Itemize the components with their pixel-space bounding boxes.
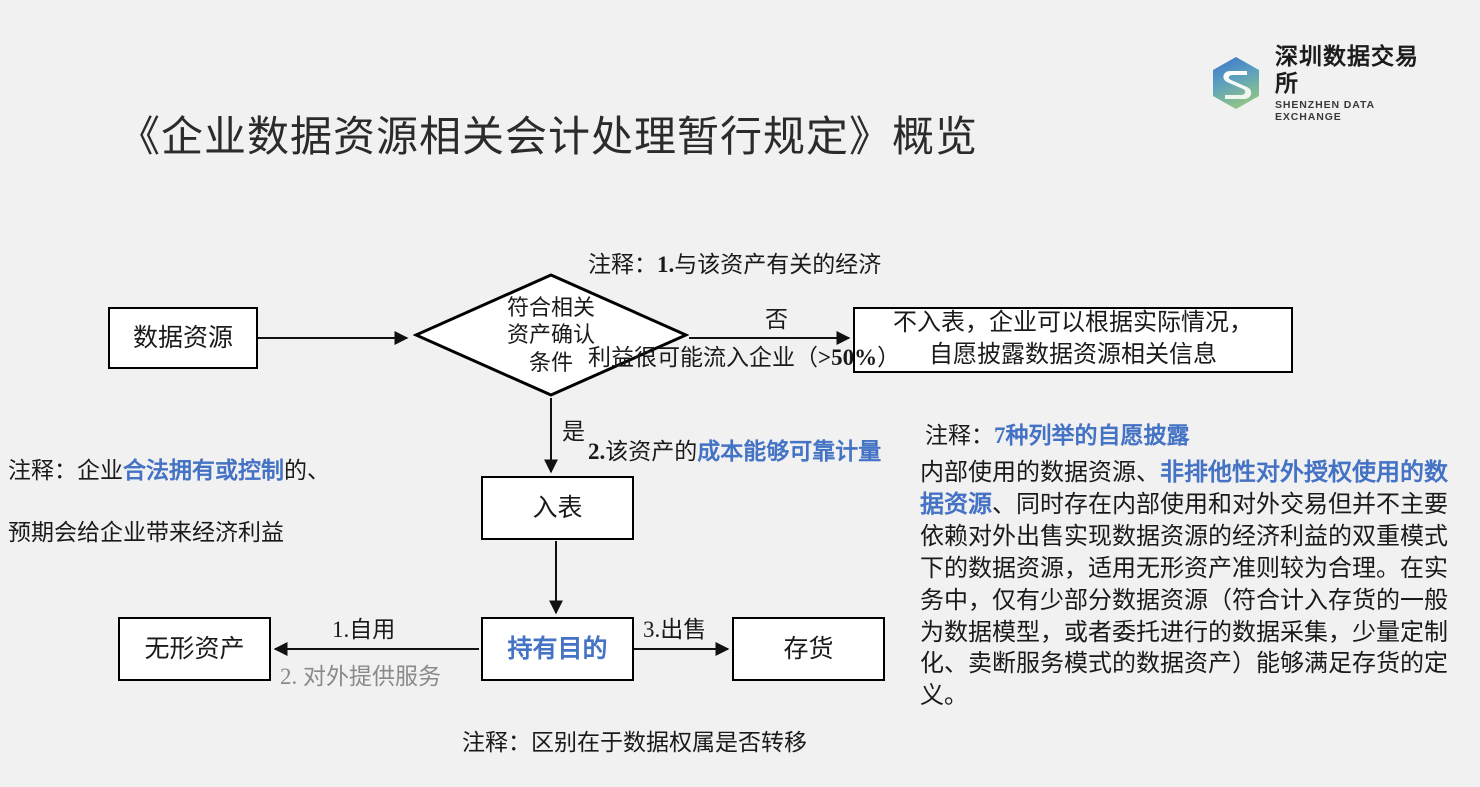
annotation-top-item1-part3: ） <box>877 345 900 370</box>
annotation-top-item1-part2: 利益很可能流入企业（ <box>588 345 818 370</box>
node-holding-purpose[interactable]: 持有目的 <box>481 617 634 681</box>
node-inventory-label: 存货 <box>783 633 833 666</box>
annotation-top-item2-highlight: 成本能够可靠计量 <box>697 439 881 464</box>
annotation-right-note: 注释：7种列举的自愿披露 <box>925 389 1345 452</box>
annotation-bottom: 注释：区别在于数据权属是否转移 <box>462 727 912 758</box>
annotation-right-note-prefix: 注释： <box>925 423 994 448</box>
annotation-top-item1-part1: 与该资产有关的经济 <box>674 252 881 277</box>
annotation-left-suffix: 的、 <box>284 458 330 483</box>
annotation-left-line-1: 注释：企业合法拥有或控制的、 <box>8 423 438 486</box>
annotation-top: 注释：1.与该资产有关的经济 利益很可能流入企业（>50%） 2.该资产的成本能… <box>588 186 1008 499</box>
node-intangible-asset[interactable]: 无形资产 <box>118 617 271 681</box>
annotation-left-highlight: 合法拥有或控制 <box>123 458 284 483</box>
slide-canvas: 深圳数据交易所 SHENZHEN DATA EXCHANGE 《企业数据资源相关… <box>0 0 1480 787</box>
annotation-top-line-1: 注释：1.与该资产有关的经济 <box>588 217 1008 280</box>
node-inventory[interactable]: 存货 <box>732 617 885 681</box>
decision-line-1: 符合相关 <box>507 294 595 321</box>
page-title: 《企业数据资源相关会计处理暂行规定》概览 <box>118 103 978 164</box>
node-data-resource[interactable]: 数据资源 <box>108 307 258 369</box>
decision-line-3: 条件 <box>529 349 573 376</box>
node-data-resource-label: 数据资源 <box>133 322 233 355</box>
brand-logo-text: 深圳数据交易所 SHENZHEN DATA EXCHANGE <box>1275 43 1437 123</box>
annotation-top-prefix: 注释： <box>588 252 657 277</box>
brand-name-cn: 深圳数据交易所 <box>1275 43 1437 96</box>
annotation-top-line-2: 利益很可能流入企业（>50%） <box>588 311 1008 374</box>
paragraph-segment-3: 、同时存在内部使用和对外交易但并不主要依赖对外出售实现数据资源的经济利益的双重模… <box>920 492 1448 709</box>
annotation-left-prefix: 注释：企业 <box>8 458 123 483</box>
node-intangible-asset-label: 无形资产 <box>144 633 244 666</box>
right-paragraph: 内部使用的数据资源、非排他性对外授权使用的数据资源、同时存在内部使用和对外交易但… <box>920 458 1448 713</box>
annotation-top-item1-num: 1. <box>657 252 674 277</box>
annotation-top-item2-num: 2. <box>588 439 605 464</box>
annotation-right-note-highlight: 7种列举的自愿披露 <box>994 423 1190 448</box>
node-holding-purpose-label: 持有目的 <box>507 633 607 666</box>
paragraph-segment-1: 内部使用的数据资源、 <box>920 460 1160 486</box>
annotation-left-line-2: 预期会给企业带来经济利益 <box>8 517 438 548</box>
brand-name-en: SHENZHEN DATA EXCHANGE <box>1275 99 1437 123</box>
edge-label-yes: 是 <box>562 412 585 446</box>
annotation-top-threshold: >50% <box>818 345 877 370</box>
decision-line-2: 资产确认 <box>507 321 595 348</box>
edge-label-external-service: 2. 对外提供服务 <box>280 657 441 691</box>
edge-label-sale: 3.出售 <box>643 610 706 644</box>
annotation-top-item2-plain: 该资产的 <box>605 439 697 464</box>
hexagon-s-logo-icon <box>1207 54 1265 112</box>
brand-logo: 深圳数据交易所 SHENZHEN DATA EXCHANGE <box>1207 52 1437 114</box>
edge-label-self-use: 1.自用 <box>332 610 395 644</box>
annotation-left: 注释：企业合法拥有或控制的、 预期会给企业带来经济利益 <box>8 392 438 580</box>
node-on-sheet-label: 入表 <box>532 492 582 525</box>
